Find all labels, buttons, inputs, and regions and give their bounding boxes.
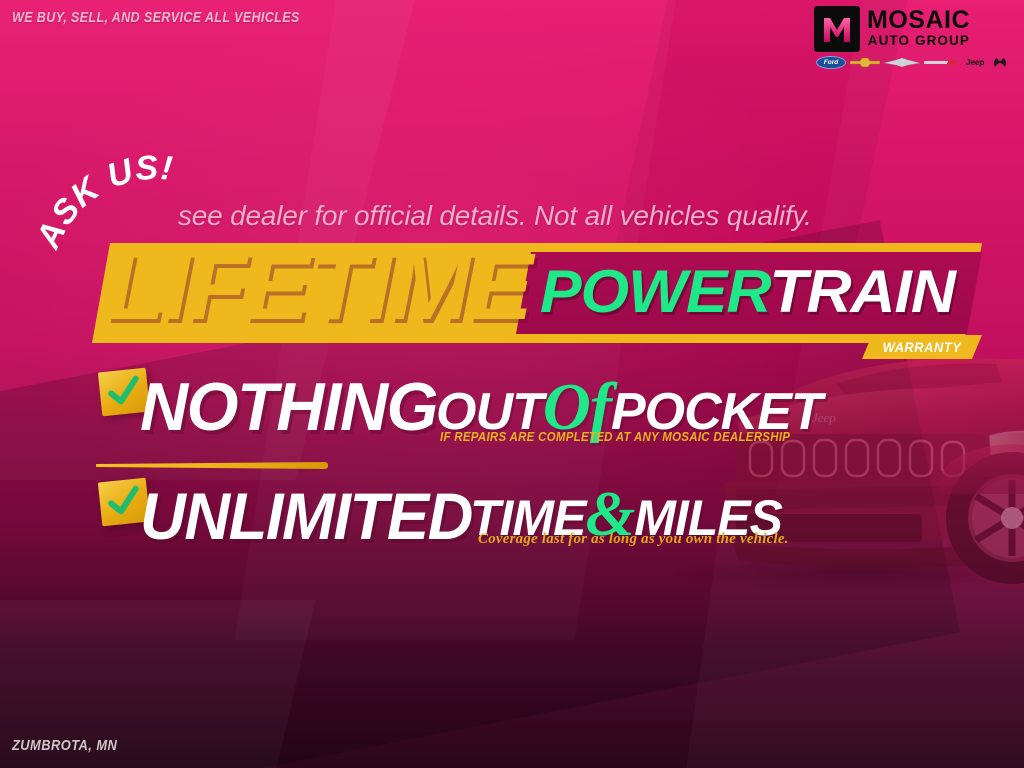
top-tagline: WE BUY, SELL, AND SERVICE ALL VEHICLES <box>12 9 300 26</box>
powertrain-train-word: TRAIN <box>769 258 954 325</box>
logo-name: MOSAIC <box>867 8 970 32</box>
powertrain-power-word: POWER <box>540 258 769 325</box>
dealer-logo[interactable]: MOSAIC AUTO GROUP Ford <box>814 6 1010 69</box>
ford-logo-icon: Ford <box>816 56 846 69</box>
benefit-2-main-word: UNLIMITED <box>140 482 472 550</box>
vehicle-image-jeep: Jeep <box>640 318 1024 618</box>
lifetime-powertrain-band: LIFETIME POWERTRAIN WARRANTY <box>92 243 982 343</box>
mosaic-m-icon <box>814 6 860 52</box>
disclaimer-text: see dealer for official details. Not all… <box>178 200 812 232</box>
franchise-brand-strip: Ford Jeep <box>814 56 1010 69</box>
ram-logo-icon <box>992 57 1008 69</box>
vehicle-shadow <box>670 556 1024 590</box>
benefit-1-main-word: NOTHING <box>140 372 437 442</box>
warranty-tab-label: WARRANTY <box>867 335 977 359</box>
powertrain-headline: POWERTRAIN <box>540 249 955 335</box>
benefit-1-fineprint: IF REPAIRS ARE COMPLETED AT ANY MOSAIC D… <box>440 430 790 444</box>
chevrolet-logo-icon <box>850 57 880 68</box>
chrysler-logo-icon <box>884 58 920 67</box>
jeep-logo-icon: Jeep <box>962 57 988 68</box>
benefit-2-fineprint: Coverage last for as long as you own the… <box>478 531 789 548</box>
warranty-tab: WARRANTY <box>862 335 982 359</box>
advertisement-banner: Jeep WE BUY, SELL, AND SERVICE AL <box>0 0 1024 768</box>
lincoln-logo-icon <box>924 58 958 67</box>
lifetime-headline: LIFETIME <box>106 237 531 337</box>
footer-location: ZUMBROTA, MN <box>12 737 117 754</box>
logo-subtitle: AUTO GROUP <box>867 33 970 48</box>
